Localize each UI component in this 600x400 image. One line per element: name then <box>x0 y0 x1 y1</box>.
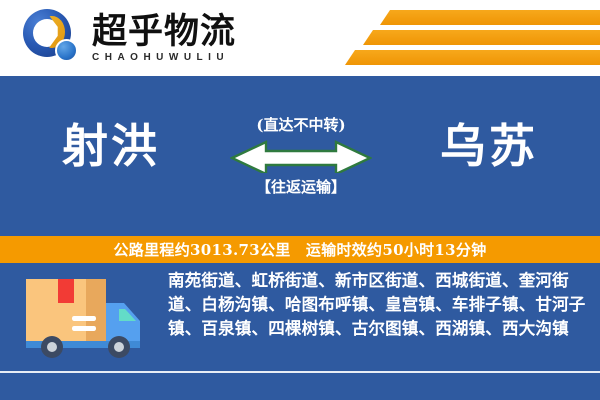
header-bar: 超乎物流 CHAOHUWULIU <box>0 0 600 76</box>
distance-duration-band: 公路里程约3013.73公里 运输时效约50小时13分钟 <box>0 236 600 263</box>
route-arrow-group: (直达不中转) 【往返运输】 <box>222 114 380 197</box>
stripe-3 <box>345 50 600 65</box>
coverage-section: 南苑街道、虹桥街道、新市区街道、西城街道、奎河街道、白杨沟镇、哈图布呼镇、皇宫镇… <box>0 265 600 371</box>
round-trip-note: 【往返运输】 <box>222 176 380 197</box>
footer-bar <box>0 373 600 400</box>
logistics-route-card: 超乎物流 CHAOHUWULIU 射洪 (直达不中转) 【往返运输】 乌苏 公路… <box>0 0 600 400</box>
brand-text-group: 超乎物流 CHAOHUWULIU <box>92 13 236 64</box>
brand-name-en: CHAOHUWULIU <box>92 51 236 64</box>
stripe-2 <box>363 30 600 45</box>
stripe-1 <box>380 10 600 25</box>
brand-name-cn: 超乎物流 <box>92 13 236 50</box>
orange-speed-stripes-icon <box>280 0 600 76</box>
destination-city: 乌苏 <box>440 120 538 172</box>
origin-city: 射洪 <box>62 120 160 172</box>
delivery-truck-icon <box>22 273 146 361</box>
direct-service-note: (直达不中转) <box>222 114 380 135</box>
circle-crescent-logo-icon <box>22 8 82 68</box>
distance-duration-text: 公路里程约3013.73公里 运输时效约50小时13分钟 <box>114 239 487 260</box>
coverage-areas-text: 南苑街道、虹桥街道、新市区街道、西城街道、奎河街道、白杨沟镇、哈图布呼镇、皇宫镇… <box>168 269 588 341</box>
logo-dot-shape <box>55 39 78 62</box>
double-headed-arrow-icon <box>230 137 372 173</box>
route-panel: 射洪 (直达不中转) 【往返运输】 乌苏 <box>0 76 600 231</box>
